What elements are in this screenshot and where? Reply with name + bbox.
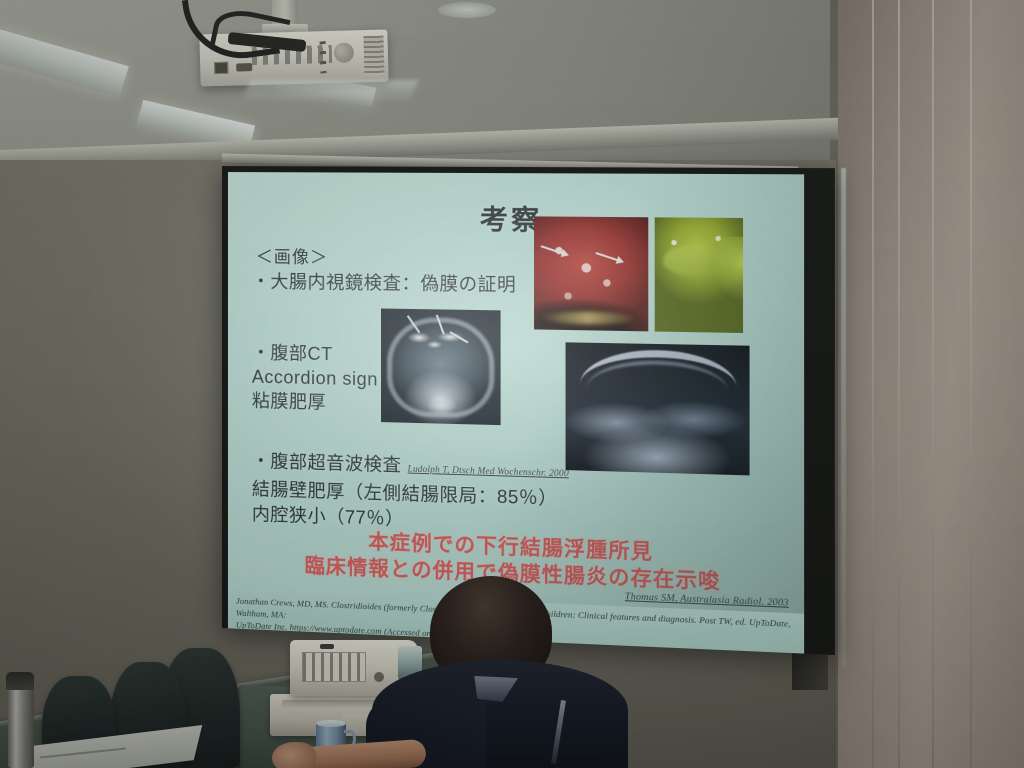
projector-port-square [214,62,228,74]
slide-citation-ludolph: Ludolph T, Dtsch Med Wochenschr. 2000 [408,463,569,478]
slide-bullet-ct-line-3: 粘膜肥厚 [252,389,378,416]
coffee-mug-rim [316,720,346,727]
ceiling-spot-light [438,2,496,18]
projection-screen: 考察 ＜画像＞ ・大腸内視鏡検査：偽膜の証明 ・腹部CT Accordion s… [222,166,835,655]
table-projector-vent [302,652,366,682]
wall-panel-seam [970,0,972,768]
wall-panel-seam [872,0,874,768]
slide-bullet-ultrasound: ・腹部超音波検査Ludolph T, Dtsch Med Wochenschr.… [252,449,569,538]
projector-port-hdmi [236,63,252,71]
ct-sacrum [426,395,457,416]
seated-viewer-hand [272,742,316,768]
slide-title: 考察 [480,198,543,238]
thermos-flask[interactable] [8,678,34,768]
slide-bullet-ct-line-1: ・腹部CT [252,341,378,368]
projector-status-leds [320,41,327,73]
wall-panel-seam [932,0,934,768]
projector-vent [363,36,384,77]
endoscopy-light-glare [713,237,743,302]
table-projector-indicator [320,644,334,649]
projector-focus-knob[interactable] [334,42,355,63]
projector-base-slot [282,700,376,710]
abdominal-ct-image [381,309,501,426]
slide-section-header: ＜画像＞ [256,242,328,268]
slide-bullet-ct-line-2: Accordion sign [252,365,378,392]
slide-bullet-us-lead: ・腹部超音波検査 [252,451,402,476]
wall-panel-seam [898,0,900,768]
slide-bullet-endoscopy: ・大腸内視鏡検査：偽膜の証明 [252,267,516,297]
table-projector-knob[interactable] [374,672,384,682]
right-wall-panels [838,0,1024,768]
thermos-cap[interactable] [6,672,34,690]
slide-bullet-ct: ・腹部CT Accordion sign 粘膜肥厚 [252,341,378,416]
endoscopy-image-white-light [534,216,648,331]
annotation-arrow-icon [541,245,568,255]
projected-slide: 考察 ＜画像＞ ・大腸内視鏡検査：偽膜の証明 ・腹部CT Accordion s… [228,172,804,616]
projector-light-beam [242,80,419,102]
wall-corner-highlight [841,168,846,668]
annotation-arrow-icon [595,252,622,263]
room-photo-scene: 考察 ＜画像＞ ・大腸内視鏡検査：偽膜の証明 ・腹部CT Accordion s… [0,0,1024,768]
abdominal-ultrasound-image [566,342,750,475]
endoscopy-image-nbi [655,217,743,333]
